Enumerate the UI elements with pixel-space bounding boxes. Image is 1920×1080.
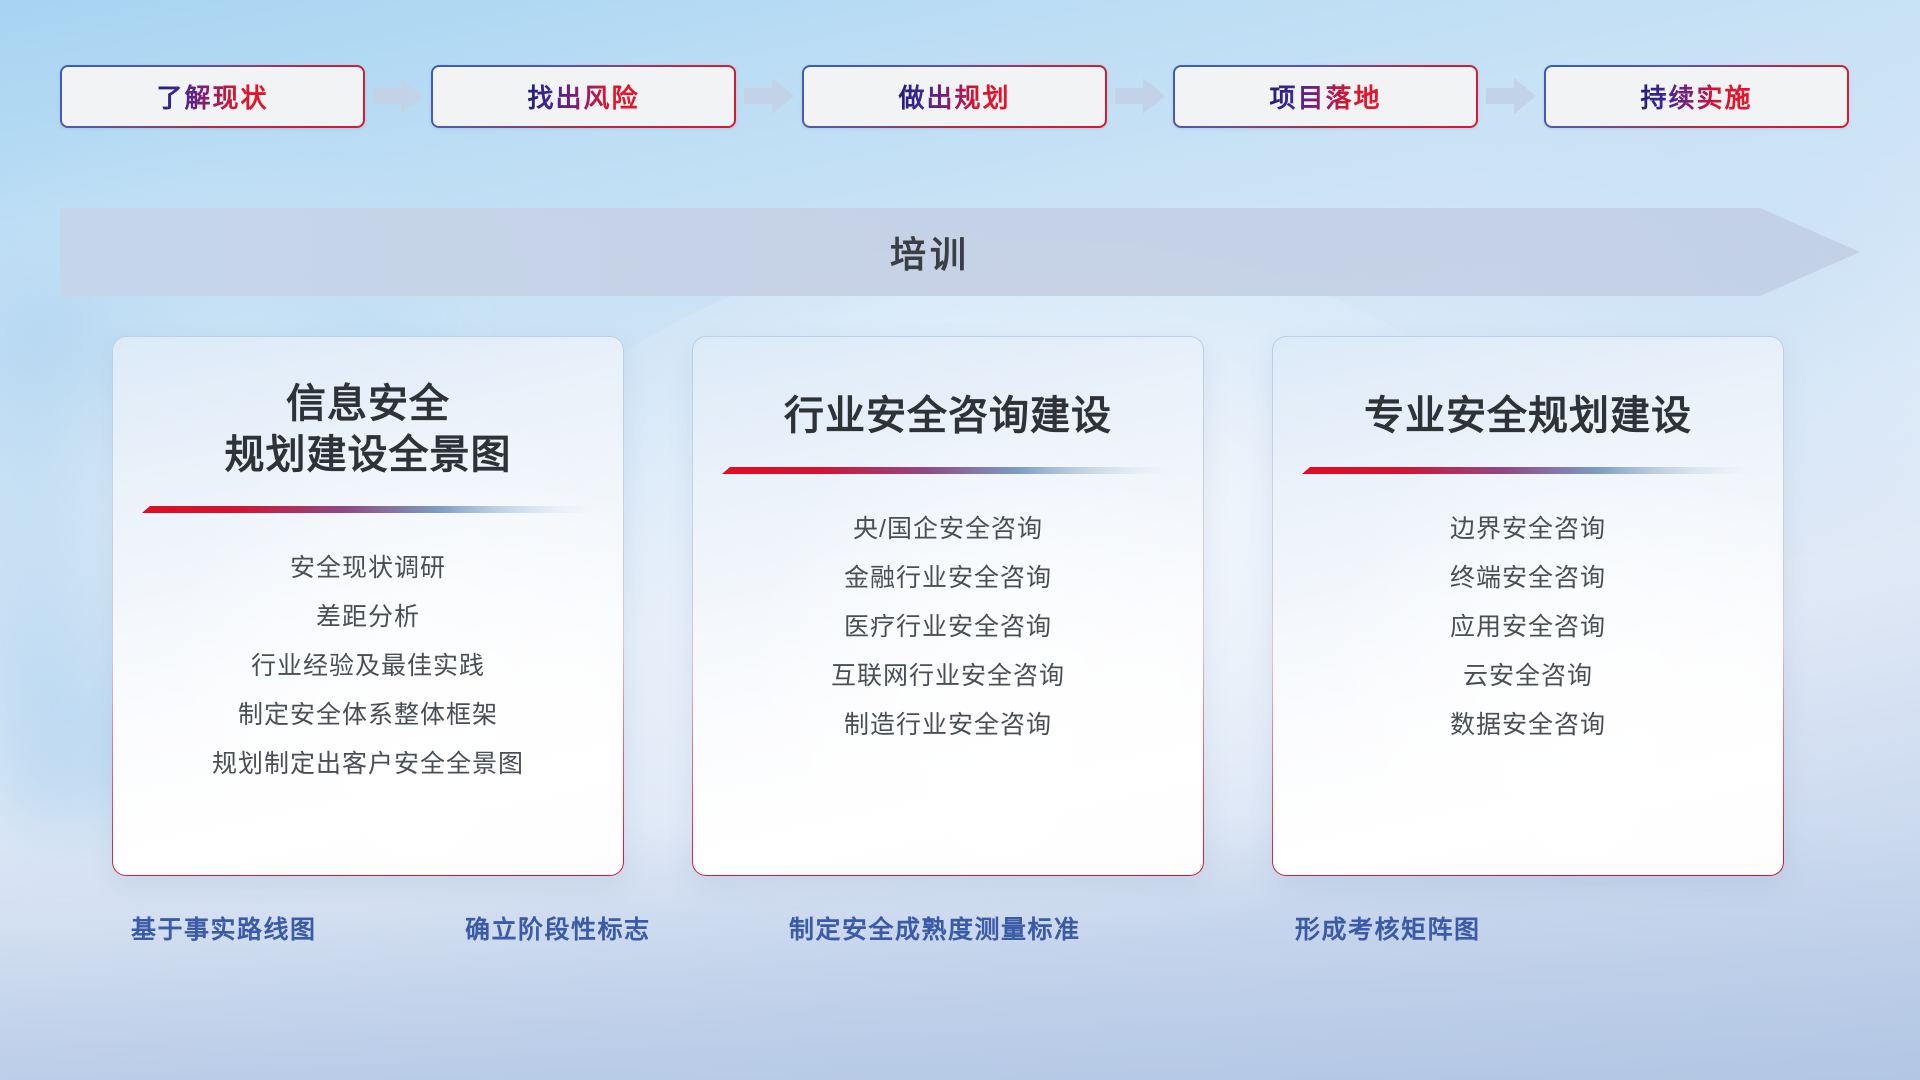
card-title: 专业安全规划建设 [1364,391,1692,442]
list-item: 央/国企安全咨询 [853,509,1043,545]
step-box-4[interactable]: 项目落地 [1173,65,1478,128]
list-item: 规划制定出客户安全全景图 [212,744,524,780]
footer-label-row: 基于事实路线图 确立阶段性标志 制定安全成熟度测量标准 形成考核矩阵图 [0,910,1920,966]
list-item: 制造行业安全咨询 [844,705,1052,741]
card-list: 安全现状调研 差距分析 行业经验及最佳实践 制定安全体系整体框架 规划制定出客户… [212,548,524,780]
arrow-right-icon-3 [1112,74,1168,118]
list-item: 应用安全咨询 [1450,607,1606,643]
card-title: 行业安全咨询建设 [784,391,1112,442]
card-row: 信息安全 规划建设全景图 [0,336,1920,876]
step-box-5[interactable]: 持续实施 [1544,65,1849,128]
card-divider [142,505,594,516]
step-box-2[interactable]: 找出风险 [431,65,736,128]
arrow-right-icon-2 [741,74,797,118]
card-list: 边界安全咨询 终端安全咨询 应用安全咨询 云安全咨询 数据安全咨询 [1450,509,1606,741]
footer-label-matrix: 形成考核矩阵图 [1295,910,1481,946]
step-label: 找出风险 [527,78,639,115]
list-item: 安全现状调研 [290,548,446,584]
arrow-right-icon-4 [1483,74,1539,118]
step-label: 持续实施 [1640,78,1752,115]
list-item: 云安全咨询 [1463,656,1593,692]
step-label: 了解现状 [156,78,268,115]
step-label: 项目落地 [1269,78,1381,115]
card-divider [722,466,1174,477]
list-item: 医疗行业安全咨询 [844,607,1052,643]
list-item: 制定安全体系整体框架 [238,695,498,731]
training-band: 培训 [60,208,1860,296]
list-item: 金融行业安全咨询 [844,558,1052,594]
list-item: 行业经验及最佳实践 [251,646,485,682]
footer-label-milestone: 确立阶段性标志 [465,910,651,946]
card-industry-security-consulting[interactable]: 行业安全咨询建设 [692,336,1204,876]
arrow-right-icon-1 [370,74,426,118]
list-item: 数据安全咨询 [1450,705,1606,741]
list-item: 互联网行业安全咨询 [831,656,1065,692]
card-list: 央/国企安全咨询 金融行业安全咨询 医疗行业安全咨询 互联网行业安全咨询 制造行… [831,509,1065,741]
card-title: 信息安全 规划建设全景图 [225,379,512,481]
list-item: 终端安全咨询 [1450,558,1606,594]
step-label: 做出规划 [898,78,1010,115]
list-item: 差距分析 [316,597,420,633]
footer-label-maturity: 制定安全成熟度测量标准 [789,910,1081,946]
step-flow: 了解现状 找出风险 做出规划 项目落地 持续实施 [60,64,1860,128]
card-info-security-blueprint[interactable]: 信息安全 规划建设全景图 [112,336,624,876]
card-divider [1302,466,1754,477]
step-box-3[interactable]: 做出规划 [802,65,1107,128]
list-item: 边界安全咨询 [1450,509,1606,545]
footer-label-roadmap: 基于事实路线图 [131,910,317,946]
step-box-1[interactable]: 了解现状 [60,65,365,128]
card-professional-security-planning[interactable]: 专业安全规划建设 [1272,336,1784,876]
band-label: 培训 [60,208,1800,296]
